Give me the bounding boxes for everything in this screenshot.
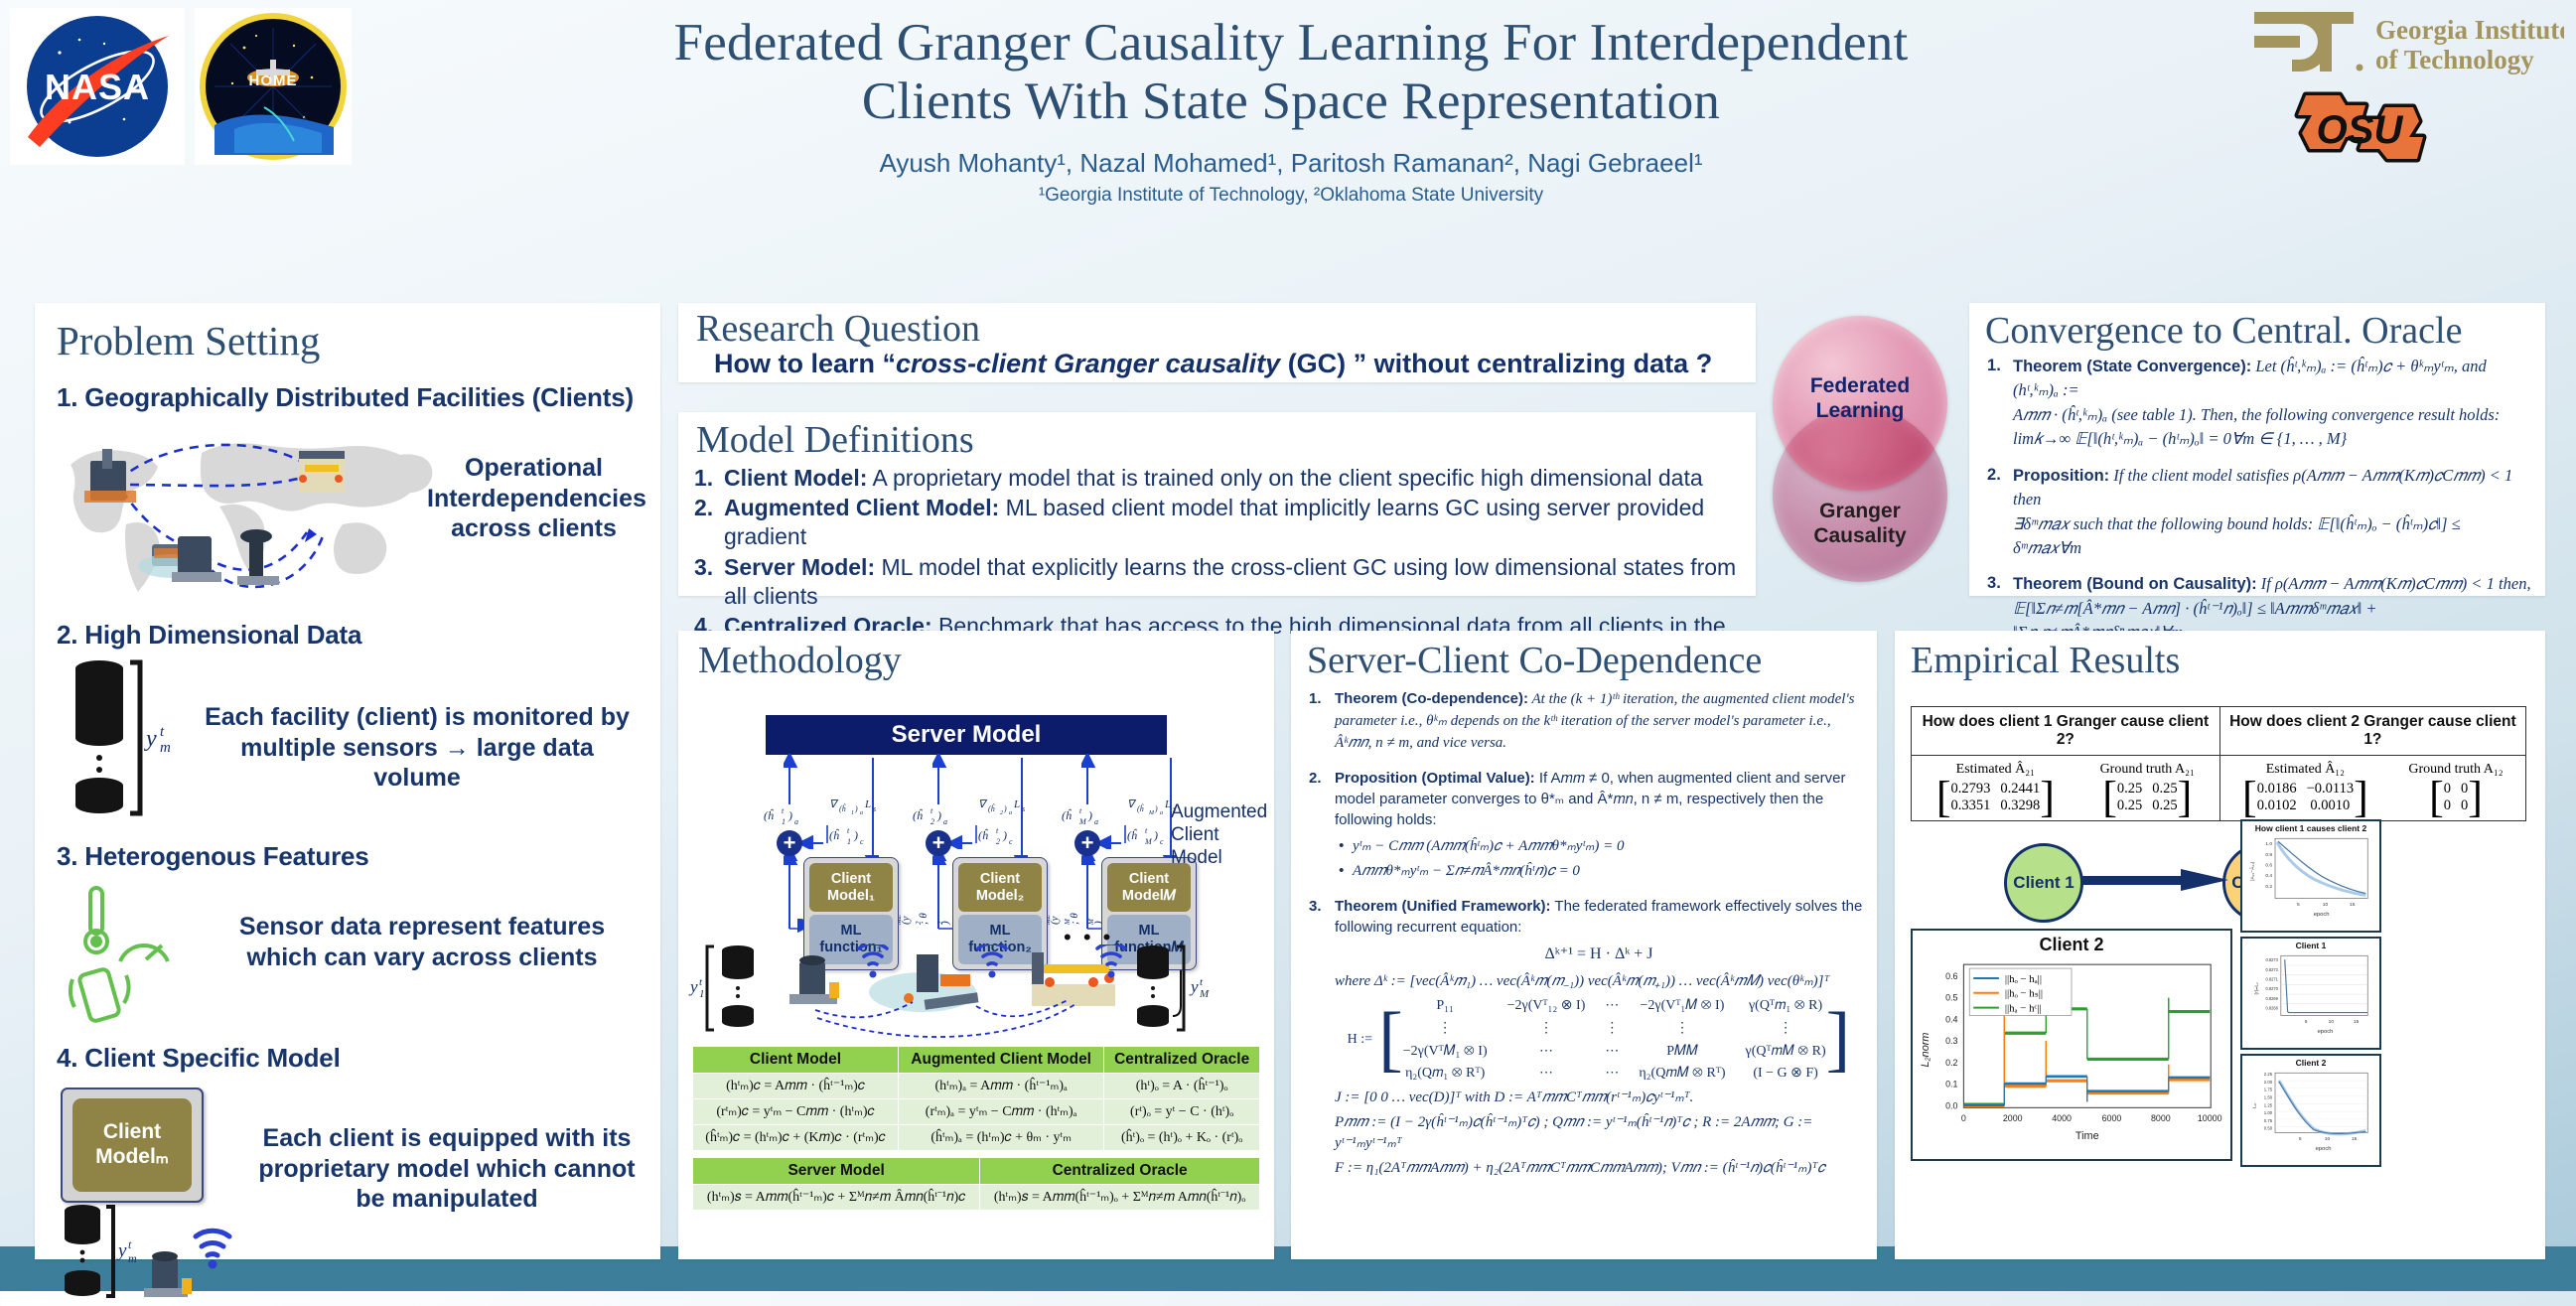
- table2-header: Server Model: [693, 1158, 980, 1185]
- svg-text:(ĥ: (ĥ: [764, 808, 775, 822]
- table1-header: Centralized Oracle: [1104, 1047, 1260, 1074]
- svg-text:a: a: [943, 817, 947, 826]
- svg-text:0.50: 0.50: [2264, 1126, 2273, 1131]
- svg-text:): ): [936, 808, 941, 822]
- augmented-client-model-label: AugmentedClient Model: [1171, 801, 1274, 869]
- research-question-panel: Research Question How to learn “cross-cl…: [678, 303, 1756, 382]
- codependence-item-3: Theorem (Unified Framework): The federat…: [1335, 896, 1863, 1179]
- client1-residual-chart: Client 1 0.8273 0.8272 0.8271 0.8270 0.8…: [2240, 937, 2381, 1050]
- empirical-results-panel: Empirical Results How does client 1 Gran…: [1895, 631, 2545, 1259]
- mini-chart-title: Client 2: [2242, 1058, 2379, 1068]
- table-row: Estimated Â₂₁ [ 0.27930.2441 0.33510.329…: [1912, 756, 2526, 821]
- svg-text:4000: 4000: [2052, 1113, 2072, 1123]
- research-question-title: Research Question: [696, 307, 1756, 351]
- codependence-bullets: yᵗₘ − C𝑚𝑚 (A𝑚𝑚(ĥᵗₘ)𝑐 + A𝑚𝑚θ*ₘyᵗₘ) = 0 A𝑚…: [1335, 836, 1863, 882]
- client1-causes-client2-chart: How client 1 causes client 2 1.0 0.8 0.6…: [2240, 819, 2381, 933]
- H-matrix: H := [ P₁₁−2γ(Vᵀ₁₂ ⊗ I)⋯−2γ(Vᵀ₁𝑀 ⊗ I)γ(Q…: [1335, 996, 1863, 1083]
- chart-title: Client 2: [1913, 935, 2230, 955]
- svg-text:10000: 10000: [2198, 1113, 2222, 1123]
- svg-text:(y: (y: [1049, 916, 1061, 925]
- problem-item-4: 4. Client Specific Model: [57, 1043, 660, 1074]
- client2-l2norm-chart: Client 2 0.0 0.1 0.2 0.3 0.4 0.5 0.6 0 2…: [1911, 929, 2232, 1161]
- heterogenous-features-figure: Sensor data represent features which can…: [35, 876, 660, 1025]
- svg-text:NASA: NASA: [45, 67, 150, 107]
- svg-text:(y: (y: [900, 916, 912, 925]
- svg-text:2: 2: [915, 921, 923, 925]
- svg-text:): ): [1087, 808, 1092, 822]
- svg-text:L₂norm: L₂norm: [1920, 1033, 1932, 1068]
- svg-text:L: L: [864, 798, 871, 810]
- gauge-icon: [120, 945, 168, 961]
- svg-text:t: t: [1145, 826, 1148, 835]
- svg-text:1.0: 1.0: [2265, 841, 2272, 847]
- wifi-icon: [1097, 944, 1125, 964]
- svg-text:8000: 8000: [2151, 1113, 2171, 1123]
- svg-text:t: t: [160, 724, 165, 740]
- equation-F: F := η₁(2Aᵀ𝑚𝑚A𝑚𝑚) + η₂(2Aᵀ𝑚𝑚Cᵀ𝑚𝑚C𝑚𝑚A𝑚𝑚);…: [1335, 1158, 1863, 1179]
- svg-text:M: M: [1148, 810, 1155, 816]
- codependence-title: Server-Client Co-Dependence: [1307, 639, 1877, 682]
- svg-text:∇: ∇: [829, 798, 839, 810]
- estimated-A21-cell: Estimated Â₂₁ [ 0.27930.2441 0.33510.329…: [1936, 762, 2055, 814]
- er-header: How does client 1 Granger cause client 2…: [1912, 707, 2220, 756]
- client-specific-model-figure: ClientModelₘ y m t: [35, 1078, 660, 1306]
- svg-text:a: a: [860, 810, 863, 816]
- equation-where: where Δᵏ := [vec(Âᵏ𝑚₁) … vec(Âᵏ𝑚(𝑚₋₁)) v…: [1335, 971, 1863, 992]
- svg-text:L: L: [1013, 798, 1020, 810]
- svg-text:): ): [1154, 804, 1158, 813]
- codependence-list: Theorem (Co-dependence): At the (k + 1)ᵗ…: [1291, 688, 1877, 1179]
- svg-text:0.8273: 0.8273: [2265, 957, 2278, 962]
- mini-chart-title: How client 1 causes client 2: [2242, 823, 2379, 833]
- codependence-bullet: A𝑚𝑚θ*ₘyᵗₘ − Σ𝑛≠𝑚Â*𝑚𝑛(ĥᵗ𝑛)𝑐 = 0: [1353, 861, 1863, 882]
- svg-text:∇: ∇: [978, 798, 988, 810]
- svg-text:): ): [939, 921, 951, 926]
- convergence-panel: Convergence to Central. Oracle Theorem (…: [1969, 303, 2545, 596]
- svg-text:(r)ₘL₂: (r)ₘL₂: [2254, 982, 2260, 995]
- svg-text:0.6: 0.6: [1945, 971, 1957, 981]
- svg-text:10: 10: [2323, 902, 2329, 908]
- svg-text:(ĥ: (ĥ: [829, 828, 840, 842]
- model-definition-item: Augmented Client Model: ML based client …: [724, 494, 1742, 551]
- research-question-text: How to learn “cross-client Granger causa…: [714, 349, 1756, 379]
- table-row: (ĥᵗₘ)𝑐 = (hᵗₘ)𝑐 + (K𝑚)𝑐 · (rᵗₘ)𝑐(ĥᵗₘ)ₐ =…: [693, 1125, 1260, 1151]
- high-dimensional-data-figure: y m t Each facility (client) is monitore…: [35, 654, 660, 823]
- table1-header: Client Model: [693, 1047, 899, 1074]
- svg-text:y: y: [144, 726, 157, 752]
- svg-text:1.75: 1.75: [2264, 1088, 2273, 1092]
- poster-header: NASA HOME Federated Granger Causality Le…: [0, 0, 2576, 177]
- svg-text:0.5: 0.5: [1945, 993, 1957, 1003]
- model-definition-item: Server Model: ML model that explicitly l…: [724, 553, 1742, 611]
- svg-text:): ): [1003, 804, 1007, 813]
- svg-text:10: 10: [2329, 1019, 2335, 1025]
- page-title-line2: Clients With State Space Representation: [477, 73, 2105, 131]
- methodology-panel: Methodology Server Model (ĥ1t)a (ĥ2t)a (…: [678, 631, 1274, 1259]
- svg-text:(ĥ: (ĥ: [1137, 803, 1145, 813]
- svg-text:0.8: 0.8: [2265, 852, 2272, 858]
- svg-text:2: 2: [930, 817, 934, 826]
- svg-text:c: c: [1009, 837, 1013, 846]
- problem-item-1: 1. Geographically Distributed Facilities…: [57, 382, 660, 413]
- plus-node-1: +: [777, 830, 802, 856]
- empirical-results-table: How does client 1 Granger cause client 2…: [1911, 706, 2526, 821]
- problem-item-2-note: Each facility (client) is monitored by m…: [204, 702, 631, 794]
- svg-text:15: 15: [2352, 1136, 2358, 1142]
- client-model-1: ClientModel₁: [809, 863, 893, 912]
- table2-header: Centralized Oracle: [980, 1158, 1260, 1185]
- svg-text:epoch: epoch: [2316, 1146, 2332, 1152]
- svg-text:t: t: [847, 826, 850, 835]
- svg-text:5: 5: [2297, 902, 2300, 908]
- svg-text:OSU: OSU: [2317, 108, 2404, 152]
- svg-text:m: m: [160, 740, 171, 756]
- svg-text:2.25: 2.25: [2264, 1072, 2273, 1077]
- svg-text:t: t: [1079, 806, 1082, 815]
- vibration-sensor-icon: [71, 968, 129, 1022]
- estimated-A12-cell: Estimated Â₁₂ [ 0.0186−0.0113 0.01020.00…: [2242, 762, 2368, 814]
- nasa-logo: NASA: [10, 8, 185, 165]
- svg-text:0.0: 0.0: [1945, 1100, 1957, 1110]
- empirical-results-title: Empirical Results: [1911, 639, 2545, 682]
- svg-text:m: m: [128, 1251, 137, 1265]
- venn-label-granger-causality: GrangerCausality: [1773, 499, 1947, 548]
- svg-text:15: 15: [2354, 1019, 2360, 1025]
- svg-text:1.00: 1.00: [2264, 1110, 2273, 1115]
- svg-text:a: a: [1160, 810, 1163, 816]
- model-definition-item: Client Model: A proprietary model that i…: [724, 464, 1742, 493]
- client-model-m: ClientModel𝑀: [1107, 863, 1191, 912]
- svg-text:t: t: [699, 976, 703, 988]
- svg-text:(ĥ: (ĥ: [913, 808, 924, 822]
- table-row: (hᵗₘ)𝑐 = A𝑚𝑚 · (ĥᵗ⁻¹ₘ)𝑐(hᵗₘ)ₐ = A𝑚𝑚 · (ĥ…: [693, 1074, 1260, 1099]
- methodology-title: Methodology: [698, 639, 1274, 682]
- convergence-item: Proposition: If the client model satisfi…: [2013, 464, 2531, 561]
- equation-P: P𝑚𝑚 := (I − 2γ(ĥᵗ⁻¹ₘ)𝑐(ĥᵗ⁻¹ₘ)ᵀ𝑐) ; Q𝑚𝑛 :…: [1335, 1112, 1863, 1154]
- plus-node-3: +: [1074, 830, 1100, 856]
- svg-text:0.2: 0.2: [1945, 1058, 1957, 1068]
- svg-text:s: s: [1022, 804, 1025, 813]
- svg-text:0.6: 0.6: [2265, 862, 2272, 868]
- svg-text:M: M: [1199, 988, 1210, 1000]
- client-model-label: ClientModelₘ: [72, 1098, 192, 1192]
- svg-text:2: 2: [996, 837, 1000, 846]
- svg-text:1.50: 1.50: [2264, 1094, 2273, 1099]
- legend-2: ||hₐ − hᶜ||: [2005, 1003, 2042, 1015]
- oklahoma-state-logo: OSU: [2270, 83, 2457, 167]
- svg-text:0.8269: 0.8269: [2265, 996, 2278, 1001]
- svg-text:5: 5: [2305, 1019, 2308, 1025]
- title-block: Federated Granger Causality Learning For…: [477, 14, 2105, 207]
- svg-text:1.25: 1.25: [2264, 1102, 2273, 1107]
- svg-text:1: 1: [851, 810, 854, 816]
- page-title-line1: Federated Granger Causality Learning For…: [477, 14, 2105, 73]
- svg-text:(ĥ: (ĥ: [1062, 808, 1073, 822]
- data-cylinder-icon: y m t: [35, 654, 204, 823]
- table1-header: Augmented Client Model: [899, 1047, 1104, 1074]
- er-header: How does client 2 Granger cause client 1…: [2219, 707, 2525, 756]
- server-model-block: Server Model: [766, 715, 1167, 755]
- svg-text:0.4: 0.4: [1945, 1014, 1957, 1024]
- svg-text:0.3: 0.3: [1945, 1036, 1957, 1046]
- equation-main: Δᵏ⁺¹ = H · Δᵏ + J: [1335, 943, 1863, 965]
- model-definitions-title: Model Definitions: [696, 418, 1756, 462]
- problem-setting-title: Problem Setting: [57, 317, 660, 364]
- methodology-table-2: Server Model Centralized Oracle (hᵗₘ)𝑠 =…: [692, 1157, 1260, 1211]
- svg-text:a: a: [1094, 817, 1098, 826]
- svg-text:1: 1: [782, 817, 786, 826]
- codependence-panel: Server-Client Co-Dependence Theorem (Co-…: [1291, 631, 1877, 1259]
- chart-plot-area: 0.0 0.1 0.2 0.3 0.4 0.5 0.6 0 2000 4000 …: [1913, 955, 2226, 1152]
- problem-item-4-note: Each client is equipped with its proprie…: [253, 1123, 641, 1215]
- venn-diagram: FederatedLearning GrangerCausality: [1761, 316, 1964, 584]
- problem-item-3-note: Sensor data represent features which can…: [214, 912, 631, 972]
- client-model-2: ClientModel₂: [958, 863, 1042, 912]
- svg-text:t: t: [1200, 976, 1204, 988]
- model-definitions-panel: Model Definitions Client Model: A propri…: [678, 412, 1756, 596]
- yM-label: y: [1189, 977, 1199, 996]
- problem-item-3: 3. Heterogenous Features: [57, 841, 660, 872]
- svg-text:a: a: [794, 817, 798, 826]
- svg-text:0.1: 0.1: [1945, 1080, 1957, 1089]
- svg-text:): ): [1002, 828, 1007, 842]
- methodology-facilities: y 1 t y M t: [678, 944, 1274, 1046]
- world-map-figure: Operational Interdependencies across cli…: [53, 417, 643, 602]
- convergence-title: Convergence to Central. Oracle: [1985, 309, 2545, 353]
- authors: Ayush Mohanty¹, Nazal Mohamed¹, Paritosh…: [477, 148, 2105, 179]
- causality-arrow: [2081, 869, 2228, 891]
- svg-text:0.2: 0.2: [2265, 884, 2272, 890]
- methodology-table-1: Client Model Augmented Client Model Cent…: [692, 1046, 1260, 1151]
- svg-text:15: 15: [2350, 902, 2356, 908]
- problem-setting-panel: Problem Setting 1. Geographically Distri…: [35, 303, 660, 1259]
- svg-text:2: 2: [1000, 810, 1003, 816]
- convergence-list: Theorem (State Convergence): Let (ĥᵗ,ᵏₘ)…: [1969, 355, 2545, 646]
- client-1-node: Client 1: [2004, 843, 2083, 923]
- svg-text:; θ: ; θ: [1069, 913, 1080, 925]
- svg-text:2000: 2000: [2003, 1113, 2023, 1123]
- client-model-box: ClientModelₘ: [61, 1088, 204, 1203]
- svg-text:(ĥ: (ĥ: [839, 803, 847, 813]
- codependence-item-2: Proposition (Optimal Value): If A𝑚𝑚 ≠ 0,…: [1335, 768, 1863, 882]
- table-row: (hᵗₘ)𝑠 = A𝑚𝑚(ĥᵗ⁻¹ₘ)𝑐 + Σᴹ𝑛≠𝑚 Â𝑚𝑛(ĥᵗ⁻¹𝑛)𝑐…: [693, 1185, 1260, 1211]
- svg-text:): ): [1153, 828, 1158, 842]
- svg-text:M: M: [1078, 817, 1087, 826]
- svg-text:0.8270: 0.8270: [2265, 986, 2278, 991]
- wifi-icon: [196, 1231, 229, 1255]
- svg-text:; θ: ; θ: [918, 913, 930, 925]
- svg-text:(ĥ: (ĥ: [1127, 828, 1138, 842]
- svg-text:HOME: HOME: [249, 73, 298, 89]
- svg-text:(ĥ: (ĥ: [988, 803, 996, 813]
- svg-text:10: 10: [2325, 1136, 2331, 1142]
- svg-text:c: c: [1160, 837, 1164, 846]
- venn-circle-granger-causality: [1773, 407, 1947, 582]
- svg-text:2.00: 2.00: [2264, 1080, 2273, 1085]
- client2-residual-chart: Client 2 2.25 2.00 1.75 1.50 1.25 1.00 0…: [2240, 1054, 2381, 1167]
- svg-text:0.4: 0.4: [2265, 873, 2272, 879]
- svg-text:t: t: [782, 806, 785, 815]
- svg-text:c: c: [860, 837, 864, 846]
- gt-line1: Georgia Institute: [2375, 15, 2564, 45]
- svg-text:(ĥ: (ĥ: [978, 828, 989, 842]
- svg-text:): ): [787, 808, 792, 822]
- svg-text:epoch: epoch: [2314, 912, 2330, 918]
- equation-J: J := [0 0 … vec(D)]ᵀ with D := Aᵀ𝑚𝑚Cᵀ𝑚𝑚(…: [1335, 1088, 1863, 1108]
- svg-text:0: 0: [1961, 1113, 1966, 1123]
- problem-item-1-note: Operational Interdependencies across cli…: [427, 453, 641, 544]
- svg-text:0.8272: 0.8272: [2265, 967, 2278, 972]
- svg-text:1: 1: [699, 988, 705, 1000]
- svg-text:0.8268: 0.8268: [2265, 1006, 2278, 1011]
- wifi-icon: [859, 944, 887, 964]
- svg-text:2: 2: [936, 921, 944, 925]
- mini-chart-title: Client 1: [2242, 941, 2379, 950]
- svg-text:t: t: [996, 826, 999, 835]
- svg-text:∇: ∇: [1127, 798, 1137, 810]
- svg-text:0.75: 0.75: [2264, 1118, 2273, 1123]
- svg-text:1: 1: [847, 837, 851, 846]
- svg-text:t: t: [128, 1237, 132, 1251]
- affiliations: ¹Georgia Institute of Technology, ²Oklah…: [477, 185, 2105, 207]
- svg-text:M: M: [1144, 837, 1153, 846]
- svg-text:L₂ᵣ: L₂ᵣ: [2252, 1102, 2258, 1109]
- svg-text:epoch: epoch: [2318, 1029, 2334, 1035]
- svg-text:|A₂₁−Â₂₁|: |A₂₁−Â₂₁|: [2249, 862, 2256, 881]
- y1-label: y: [688, 977, 698, 996]
- gt-line2: of Technology: [2375, 45, 2534, 74]
- venn-label-federated-learning: FederatedLearning: [1773, 373, 1947, 423]
- ground-truth-A21-cell: Ground truth A₂₁ [ 0.250.25 0.250.25 ]: [2100, 762, 2195, 814]
- ground-truth-A12-cell: Ground truth A₁₂ [ 00 00 ]: [2408, 762, 2503, 814]
- codependence-bullet: yᵗₘ − C𝑚𝑚 (A𝑚𝑚(ĥᵗₘ)𝑐 + A𝑚𝑚θ*ₘyᵗₘ) = 0: [1353, 836, 1863, 857]
- svg-text:): ): [854, 804, 858, 813]
- svg-text:): ): [853, 828, 858, 842]
- svg-text:Time: Time: [2075, 1130, 2099, 1142]
- legend-1: ||hₒ − hₛ||: [2005, 988, 2043, 1000]
- svg-text:t: t: [930, 806, 933, 815]
- legend-0: ||hₒ − hₐ||: [2005, 973, 2042, 985]
- svg-text:0.8271: 0.8271: [2265, 977, 2278, 982]
- home-logo: HOME: [195, 8, 352, 165]
- svg-text:a: a: [1009, 810, 1012, 816]
- svg-text:5: 5: [2299, 1136, 2302, 1142]
- convergence-item: Theorem (State Convergence): Let (ĥᵗ,ᵏₘ)…: [2013, 355, 2531, 452]
- svg-text:6000: 6000: [2102, 1113, 2122, 1123]
- svg-text:s: s: [873, 804, 876, 813]
- table-row: (rᵗₘ)𝑐 = yᵗₘ − C𝑚𝑚 · (hᵗₘ)𝑐(rᵗₘ)ₐ = yᵗₘ …: [693, 1099, 1260, 1125]
- problem-item-2: 2. High Dimensional Data: [57, 620, 660, 651]
- svg-text:y: y: [116, 1240, 127, 1261]
- codependence-item-1: Theorem (Co-dependence): At the (k + 1)ᵗ…: [1335, 688, 1863, 754]
- plus-node-2: +: [926, 830, 951, 856]
- wifi-icon: [978, 944, 1006, 964]
- georgia-tech-logo: Georgia Institute of Technology: [2246, 6, 2564, 83]
